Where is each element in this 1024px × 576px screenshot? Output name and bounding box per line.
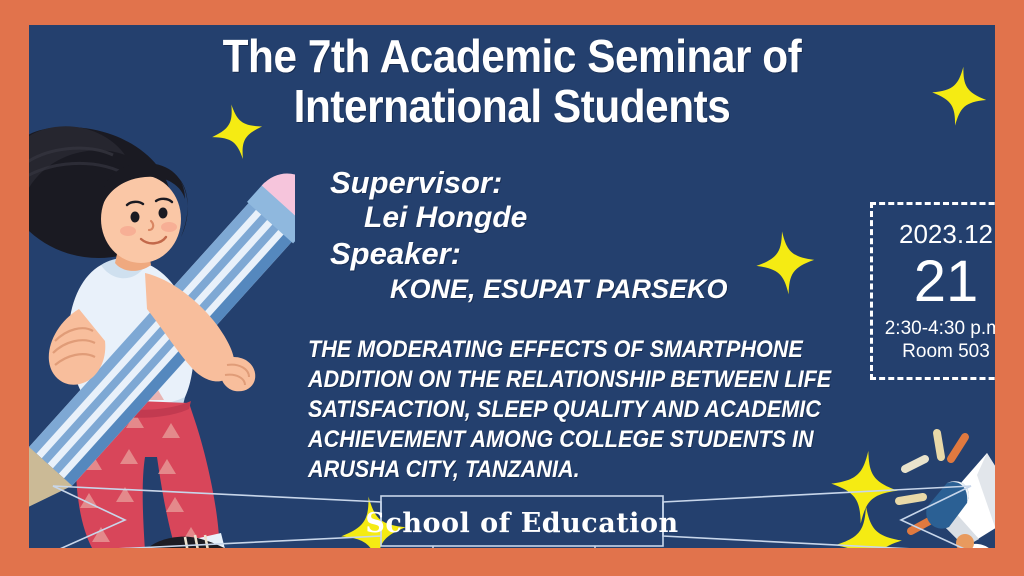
event-year-month: 2023.12 bbox=[899, 219, 993, 249]
supervisor-label: Supervisor: bbox=[330, 165, 890, 200]
student-with-pencil-illustration bbox=[29, 113, 295, 548]
ribbon-label: School of Education bbox=[382, 501, 662, 545]
poster-panel: School of Education The 7th Academic Sem… bbox=[29, 25, 995, 548]
people-block: Supervisor: Lei Hongde Speaker: KONE, ES… bbox=[330, 165, 890, 307]
abstract-line-2: ADDITION ON THE RELATIONSHIP BETWEEN LIF… bbox=[308, 365, 830, 395]
event-date-box: 2023.12 21 2:30-4:30 p.m. Room 503 bbox=[870, 202, 995, 380]
seminar-poster: School of Education The 7th Academic Sem… bbox=[0, 0, 1024, 576]
abstract-line-4: ACHIEVEMENT AMONG COLLEGE STUDENTS IN bbox=[308, 425, 830, 455]
megaphone-icon bbox=[891, 415, 995, 548]
speaker-label: Speaker: bbox=[330, 236, 890, 271]
event-time: 2:30-4:30 p.m. bbox=[885, 317, 995, 340]
event-day: 21 bbox=[914, 251, 979, 313]
abstract-line-5: ARUSHA CITY, TANZANIA. bbox=[308, 455, 830, 485]
abstract-line-1: THE MODERATING EFFECTS OF SMARTPHONE bbox=[308, 335, 830, 365]
abstract-line-3: SATISFACTION, SLEEP QUALITY AND ACADEMIC bbox=[308, 395, 830, 425]
speaker-name: KONE, ESUPAT PARSEKO bbox=[330, 271, 890, 307]
title-line-1: The 7th Academic Seminar of bbox=[68, 31, 957, 81]
supervisor-name: Lei Hongde bbox=[330, 200, 890, 236]
sparkle-star-icon bbox=[923, 61, 993, 131]
presentation-title: THE MODERATING EFFECTS OF SMARTPHONE ADD… bbox=[308, 335, 888, 485]
event-room: Room 503 bbox=[902, 340, 990, 363]
